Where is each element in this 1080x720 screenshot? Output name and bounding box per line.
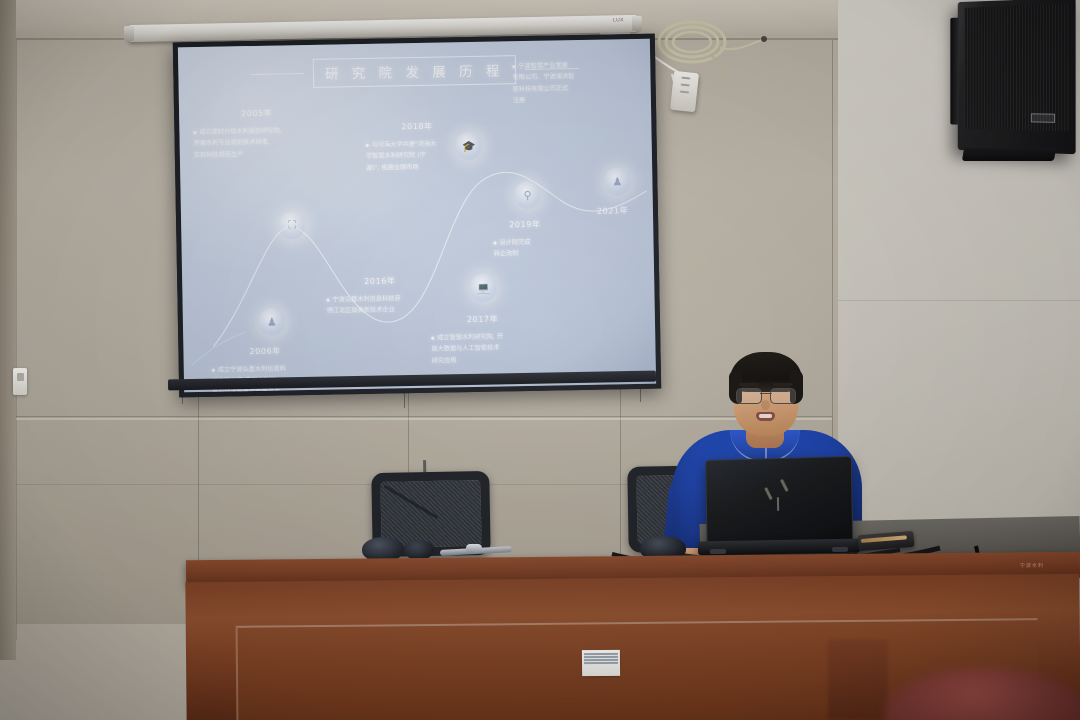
timeline-year-2016: 2016年 bbox=[364, 275, 396, 287]
timeline-node-graduation-icon: 🎓 bbox=[455, 132, 482, 160]
wall-seam bbox=[838, 300, 1080, 301]
timeline-desc-2016: 宁波弘基水利信息科技获 得江北区级高新技术企业 bbox=[326, 293, 400, 317]
timeline-node-building-icon: ⛶ bbox=[279, 211, 306, 239]
timeline-desc-2019: 设计院完成 转企改制 bbox=[493, 237, 530, 261]
roller-brand-label: LUX bbox=[613, 17, 624, 23]
presenter-mouth bbox=[756, 412, 775, 421]
presenter-nose bbox=[761, 400, 770, 410]
timeline-year-2018: 2018年 bbox=[401, 121, 433, 133]
microphone-head bbox=[466, 544, 482, 553]
timeline-desc-2017: 成立智慧水利研究院, 开 展大数据与人工智能技术 研究应用 bbox=[431, 331, 503, 367]
presentation-slide: 研 究 院 发 展 历 程 2005年 成立面材分级水利规划研究院, 开展水利专… bbox=[178, 39, 656, 393]
projection-screen: 研 究 院 发 展 历 程 2005年 成立面材分级水利规划研究院, 开展水利专… bbox=[173, 34, 661, 398]
wall-light-switch[interactable] bbox=[13, 368, 27, 395]
timeline-curve bbox=[178, 39, 656, 393]
slide-title: 研 究 院 发 展 历 程 bbox=[313, 55, 516, 88]
speaker-side-panel bbox=[950, 18, 958, 125]
timeline-node-laptop-icon: 💻 bbox=[470, 274, 497, 302]
timeline-node-person-icon: ♟ bbox=[259, 307, 286, 335]
timeline-desc-2021: 宁波智慧产业发展 有限公司、宁波浦洪智 能科技有限公司正式 注册 bbox=[512, 60, 575, 107]
podium-asset-label bbox=[582, 650, 620, 676]
timeline-desc-2018: 与河海大学共建"河海大 学智慧水利研究院 (宁 波)", 拓展全国市场 bbox=[366, 139, 437, 175]
timeline-node-person2-icon: ♟ bbox=[604, 167, 631, 195]
timeline-node-search-icon: ⚲ bbox=[514, 181, 541, 209]
timeline-year-2019: 2019年 bbox=[509, 219, 541, 231]
legion-y-logo bbox=[766, 487, 790, 511]
hanging-control-box[interactable] bbox=[670, 71, 699, 112]
wall-mounted-loudspeaker bbox=[958, 0, 1076, 154]
photo-scene: LUX 研 究 院 发 展 历 程 2005年 成立面材分级水利规划研究院, 开… bbox=[0, 0, 1080, 720]
wall-seam bbox=[198, 380, 199, 580]
title-rule-left bbox=[250, 73, 304, 75]
timeline-year-2005: 2005年 bbox=[241, 108, 273, 120]
wall-seam bbox=[16, 40, 17, 640]
timeline-year-2021: 2021年 bbox=[597, 205, 629, 217]
foreground-desk-edge bbox=[828, 640, 888, 720]
presenter-eyebrow bbox=[739, 383, 759, 386]
podium-brand-text: 宁波水利 bbox=[1020, 562, 1044, 569]
timeline-year-2017: 2017年 bbox=[467, 314, 499, 326]
presenter-eyebrow bbox=[773, 383, 793, 386]
speaker-mount-bracket bbox=[962, 148, 1056, 161]
left-wall-corner bbox=[0, 0, 16, 660]
timeline-year-2006: 2006年 bbox=[249, 346, 281, 358]
speaker-brand-badge bbox=[1031, 113, 1055, 123]
timeline-desc-2005: 成立面材分级水利规划研究院, 开展水利专业规划技术研发, 实现科技规范生产 bbox=[193, 125, 282, 161]
speaker-grille bbox=[964, 4, 1070, 131]
